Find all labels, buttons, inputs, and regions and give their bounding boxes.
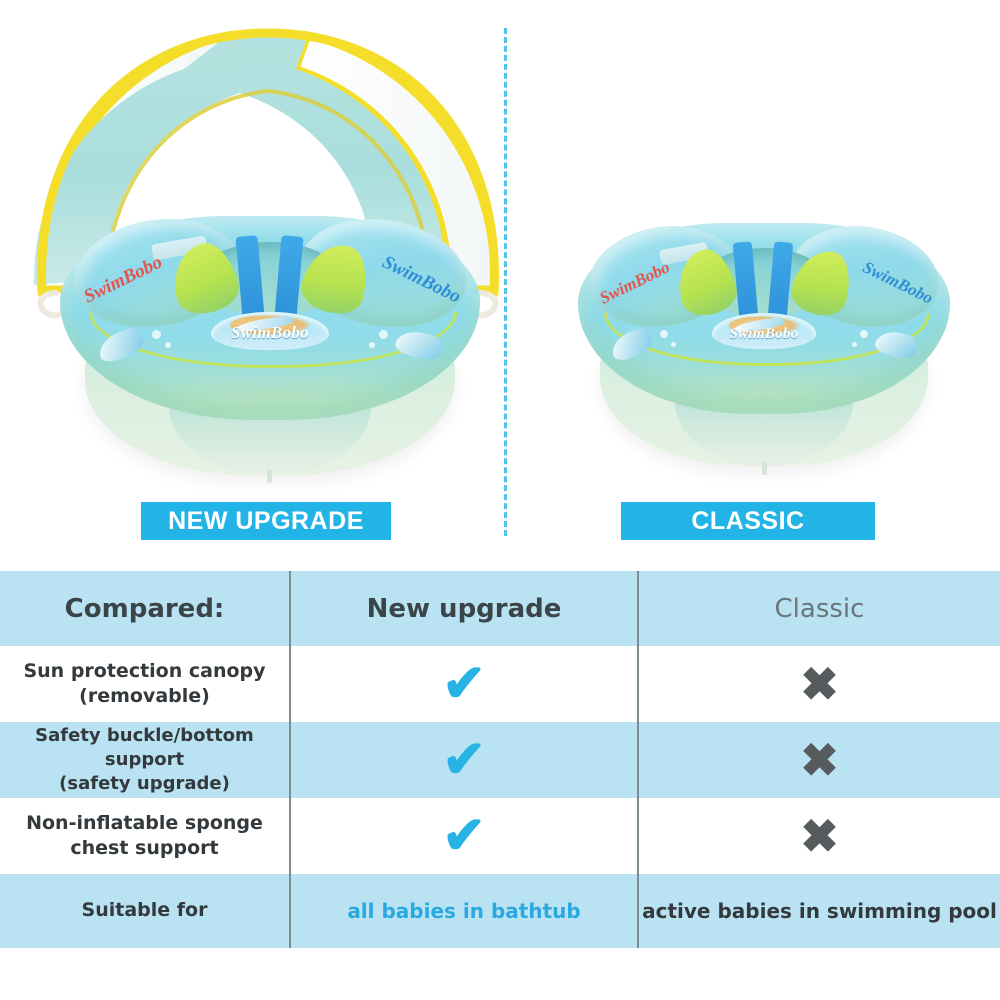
feature-label: Suitable for: [0, 874, 289, 948]
new-upgrade-value: ✔: [289, 646, 637, 722]
table-header-compared: Compared:: [0, 571, 289, 646]
brand-logo-text: SwimBobo: [729, 326, 798, 343]
feature-label-line1: Sun protection canopy: [23, 659, 265, 684]
label-banner-classic: CLASSIC: [621, 502, 875, 540]
check-icon: ✔: [441, 737, 487, 783]
feature-label: Non-inflatable sponge chest support: [0, 798, 289, 874]
new-upgrade-value: ✔: [289, 722, 637, 798]
feature-label-line1: Suitable for: [82, 898, 208, 923]
brand-logo-badge: SwimBobo: [712, 313, 816, 349]
label-banner-classic-text: CLASSIC: [691, 507, 804, 536]
float-ring: SwimBobo SwimBobo SwimBobo: [60, 216, 480, 420]
table-header-classic: Classic: [637, 571, 1000, 646]
product-image-new-upgrade: SwimBobo SwimBobo SwimBobo: [60, 205, 480, 480]
feature-label-line2: chest support: [26, 836, 263, 861]
air-valve-plug: [762, 461, 767, 475]
new-upgrade-suitable-text: all babies in bathtub: [347, 899, 580, 923]
table-header-new-upgrade: New upgrade: [289, 571, 637, 646]
bubble-decor-4: [852, 342, 857, 347]
classic-value: ✖: [637, 798, 1000, 874]
bubble-decor-3: [379, 330, 388, 339]
brand-logo-badge: SwimBobo: [211, 312, 329, 351]
comparison-table: Compared: New upgrade Classic Sun protec…: [0, 571, 1000, 948]
feature-label: Safety buckle/bottom support (safety upg…: [0, 722, 289, 798]
cross-icon: ✖: [800, 813, 839, 859]
classic-value: ✖: [637, 722, 1000, 798]
brand-logo-text: SwimBobo: [231, 323, 309, 343]
air-valve-plug: [267, 469, 272, 483]
bubble-decor-1: [660, 330, 668, 338]
label-banner-new-upgrade: NEW UPGRADE: [141, 502, 391, 540]
check-icon: ✔: [441, 661, 487, 707]
classic-value: active babies in swimming pool: [637, 874, 1000, 948]
table-header-row: Compared: New upgrade Classic: [0, 571, 1000, 646]
table-row: Safety buckle/bottom support (safety upg…: [0, 722, 1000, 798]
feature-label: Sun protection canopy (removable): [0, 646, 289, 722]
feature-label-line2: (safety upgrade): [8, 772, 281, 796]
check-icon: ✔: [441, 813, 487, 859]
baby-float-right: SwimBobo SwimBobo SwimBobo: [578, 213, 950, 471]
baby-float-left: SwimBobo SwimBobo SwimBobo: [60, 205, 480, 480]
bubble-decor-2: [671, 342, 676, 347]
feature-label-line2: (removable): [23, 684, 265, 709]
product-comparison-page: SwimBobo SwimBobo SwimBobo: [0, 0, 1000, 1000]
feature-label-line1: Safety buckle/bottom support: [8, 724, 281, 772]
hero-product-images: SwimBobo SwimBobo SwimBobo: [0, 0, 1000, 571]
feature-label-line1: Non-inflatable sponge: [26, 811, 263, 836]
classic-value: ✖: [637, 646, 1000, 722]
product-image-classic: SwimBobo SwimBobo SwimBobo: [578, 213, 950, 471]
new-upgrade-value: all babies in bathtub: [289, 874, 637, 948]
label-banner-new-upgrade-text: NEW UPGRADE: [168, 507, 364, 536]
table-row: Non-inflatable sponge chest support ✔ ✖: [0, 798, 1000, 874]
cross-icon: ✖: [800, 661, 839, 707]
table-row: Suitable for all babies in bathtub activ…: [0, 874, 1000, 948]
table-row: Sun protection canopy (removable) ✔ ✖: [0, 646, 1000, 722]
classic-suitable-text: active babies in swimming pool: [642, 899, 997, 923]
cross-icon: ✖: [800, 737, 839, 783]
new-upgrade-value: ✔: [289, 798, 637, 874]
